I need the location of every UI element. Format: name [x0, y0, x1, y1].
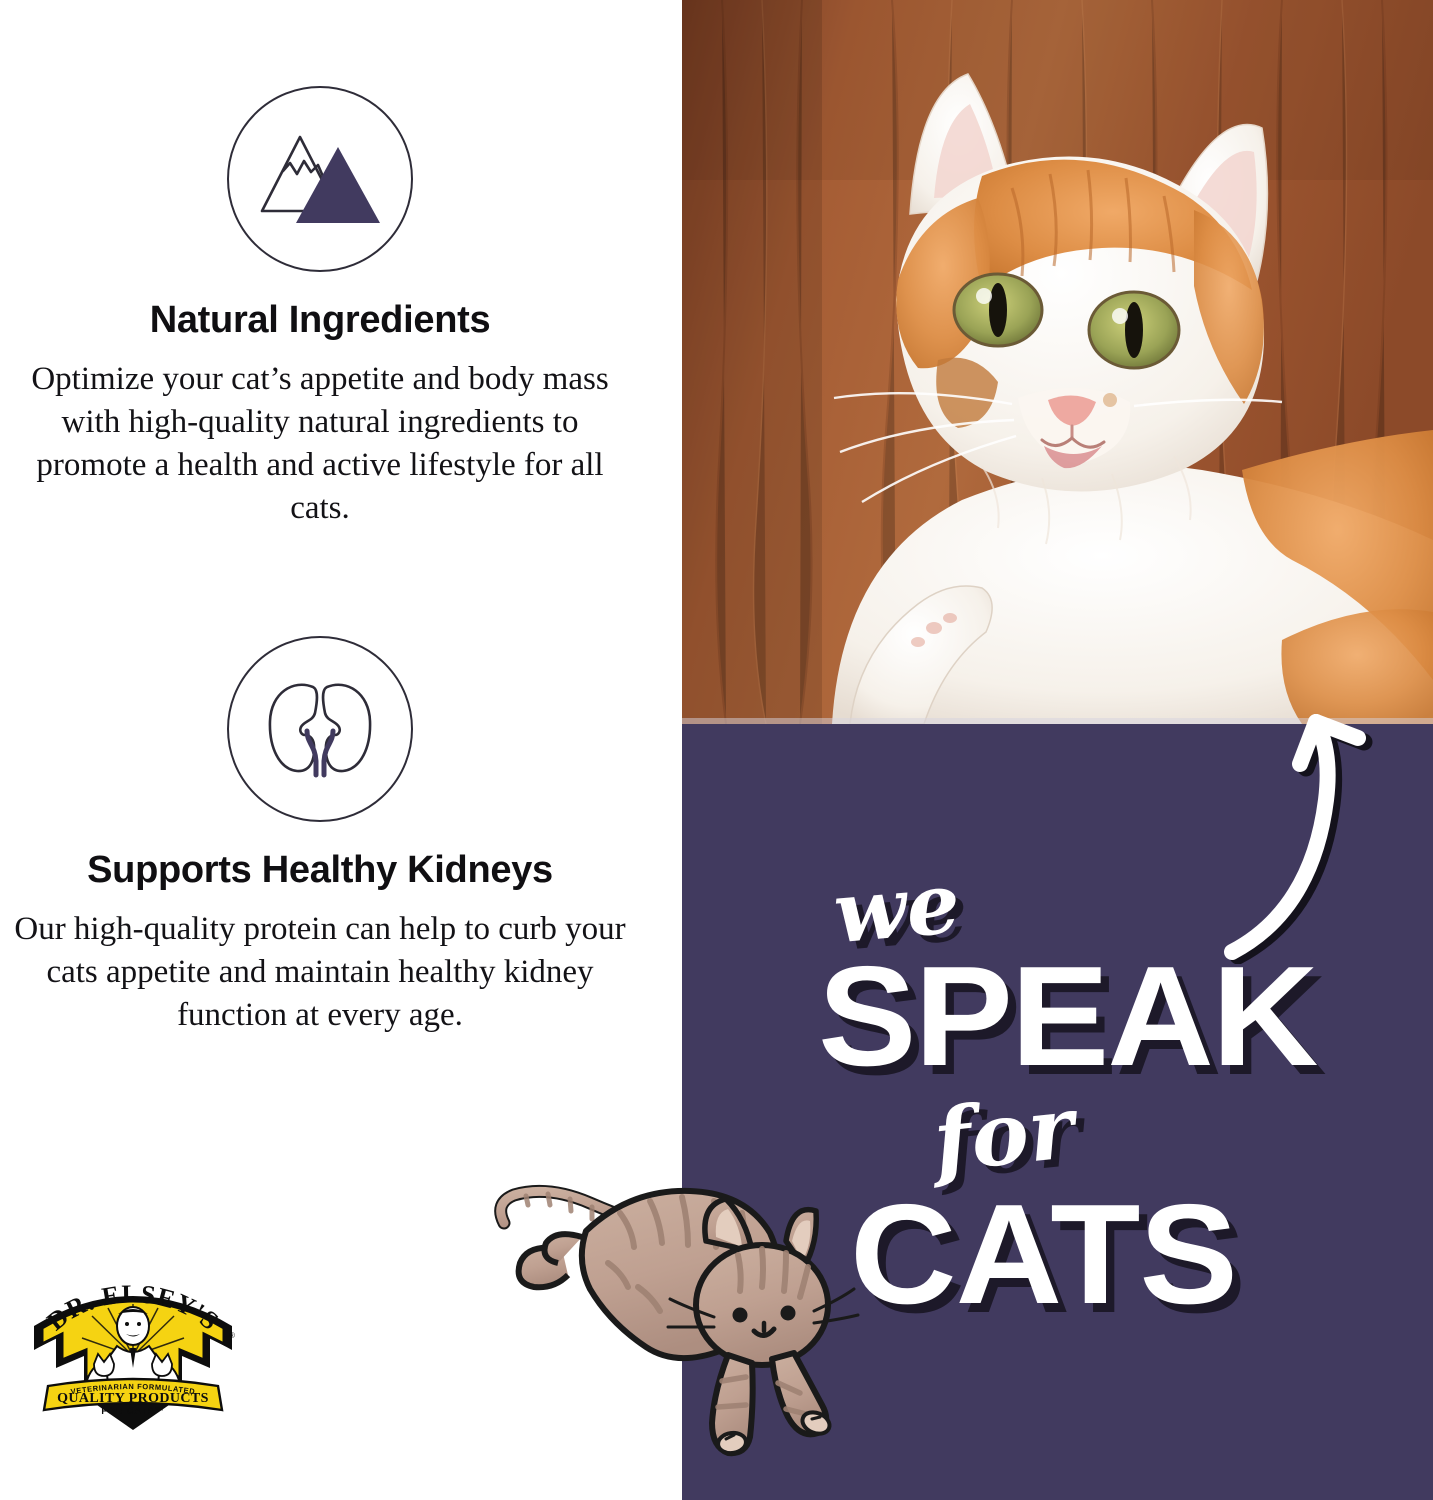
- leaping-tabby-cat-illustration: [470, 1155, 890, 1475]
- kidneys-icon: [227, 636, 413, 822]
- dr-elseys-logo: DR. ELSEY'S ® VETERINARIAN FORMULATED QU…: [22, 1264, 244, 1434]
- mountains-icon: [227, 86, 413, 272]
- feature-supports-healthy-kidneys: Supports Healthy Kidneys Our high-qualit…: [0, 636, 640, 1037]
- ginger-white-cat-photo: [682, 0, 1433, 724]
- feature-natural-ingredients: Natural Ingredients Optimize your cat’s …: [0, 86, 640, 531]
- slogan-line-speak: SPEAK: [818, 946, 1316, 1088]
- logo-banner-line-2: QUALITY PRODUCTS: [57, 1391, 209, 1406]
- slogan-line-cats: CATS: [850, 1184, 1237, 1326]
- feature-title: Natural Ingredients: [0, 300, 640, 342]
- registered-mark: ®: [229, 1331, 235, 1340]
- feature-body: Optimize your cat’s appetite and body ma…: [0, 358, 640, 531]
- feature-body: Our high-quality protein can help to cur…: [0, 908, 640, 1038]
- slogan-line-for: for: [930, 1085, 1078, 1185]
- marketing-infographic: Natural Ingredients Optimize your cat’s …: [0, 0, 1433, 1500]
- feature-title: Supports Healthy Kidneys: [0, 850, 640, 892]
- logo-banner-line-3: FOR CATS™: [101, 1406, 164, 1416]
